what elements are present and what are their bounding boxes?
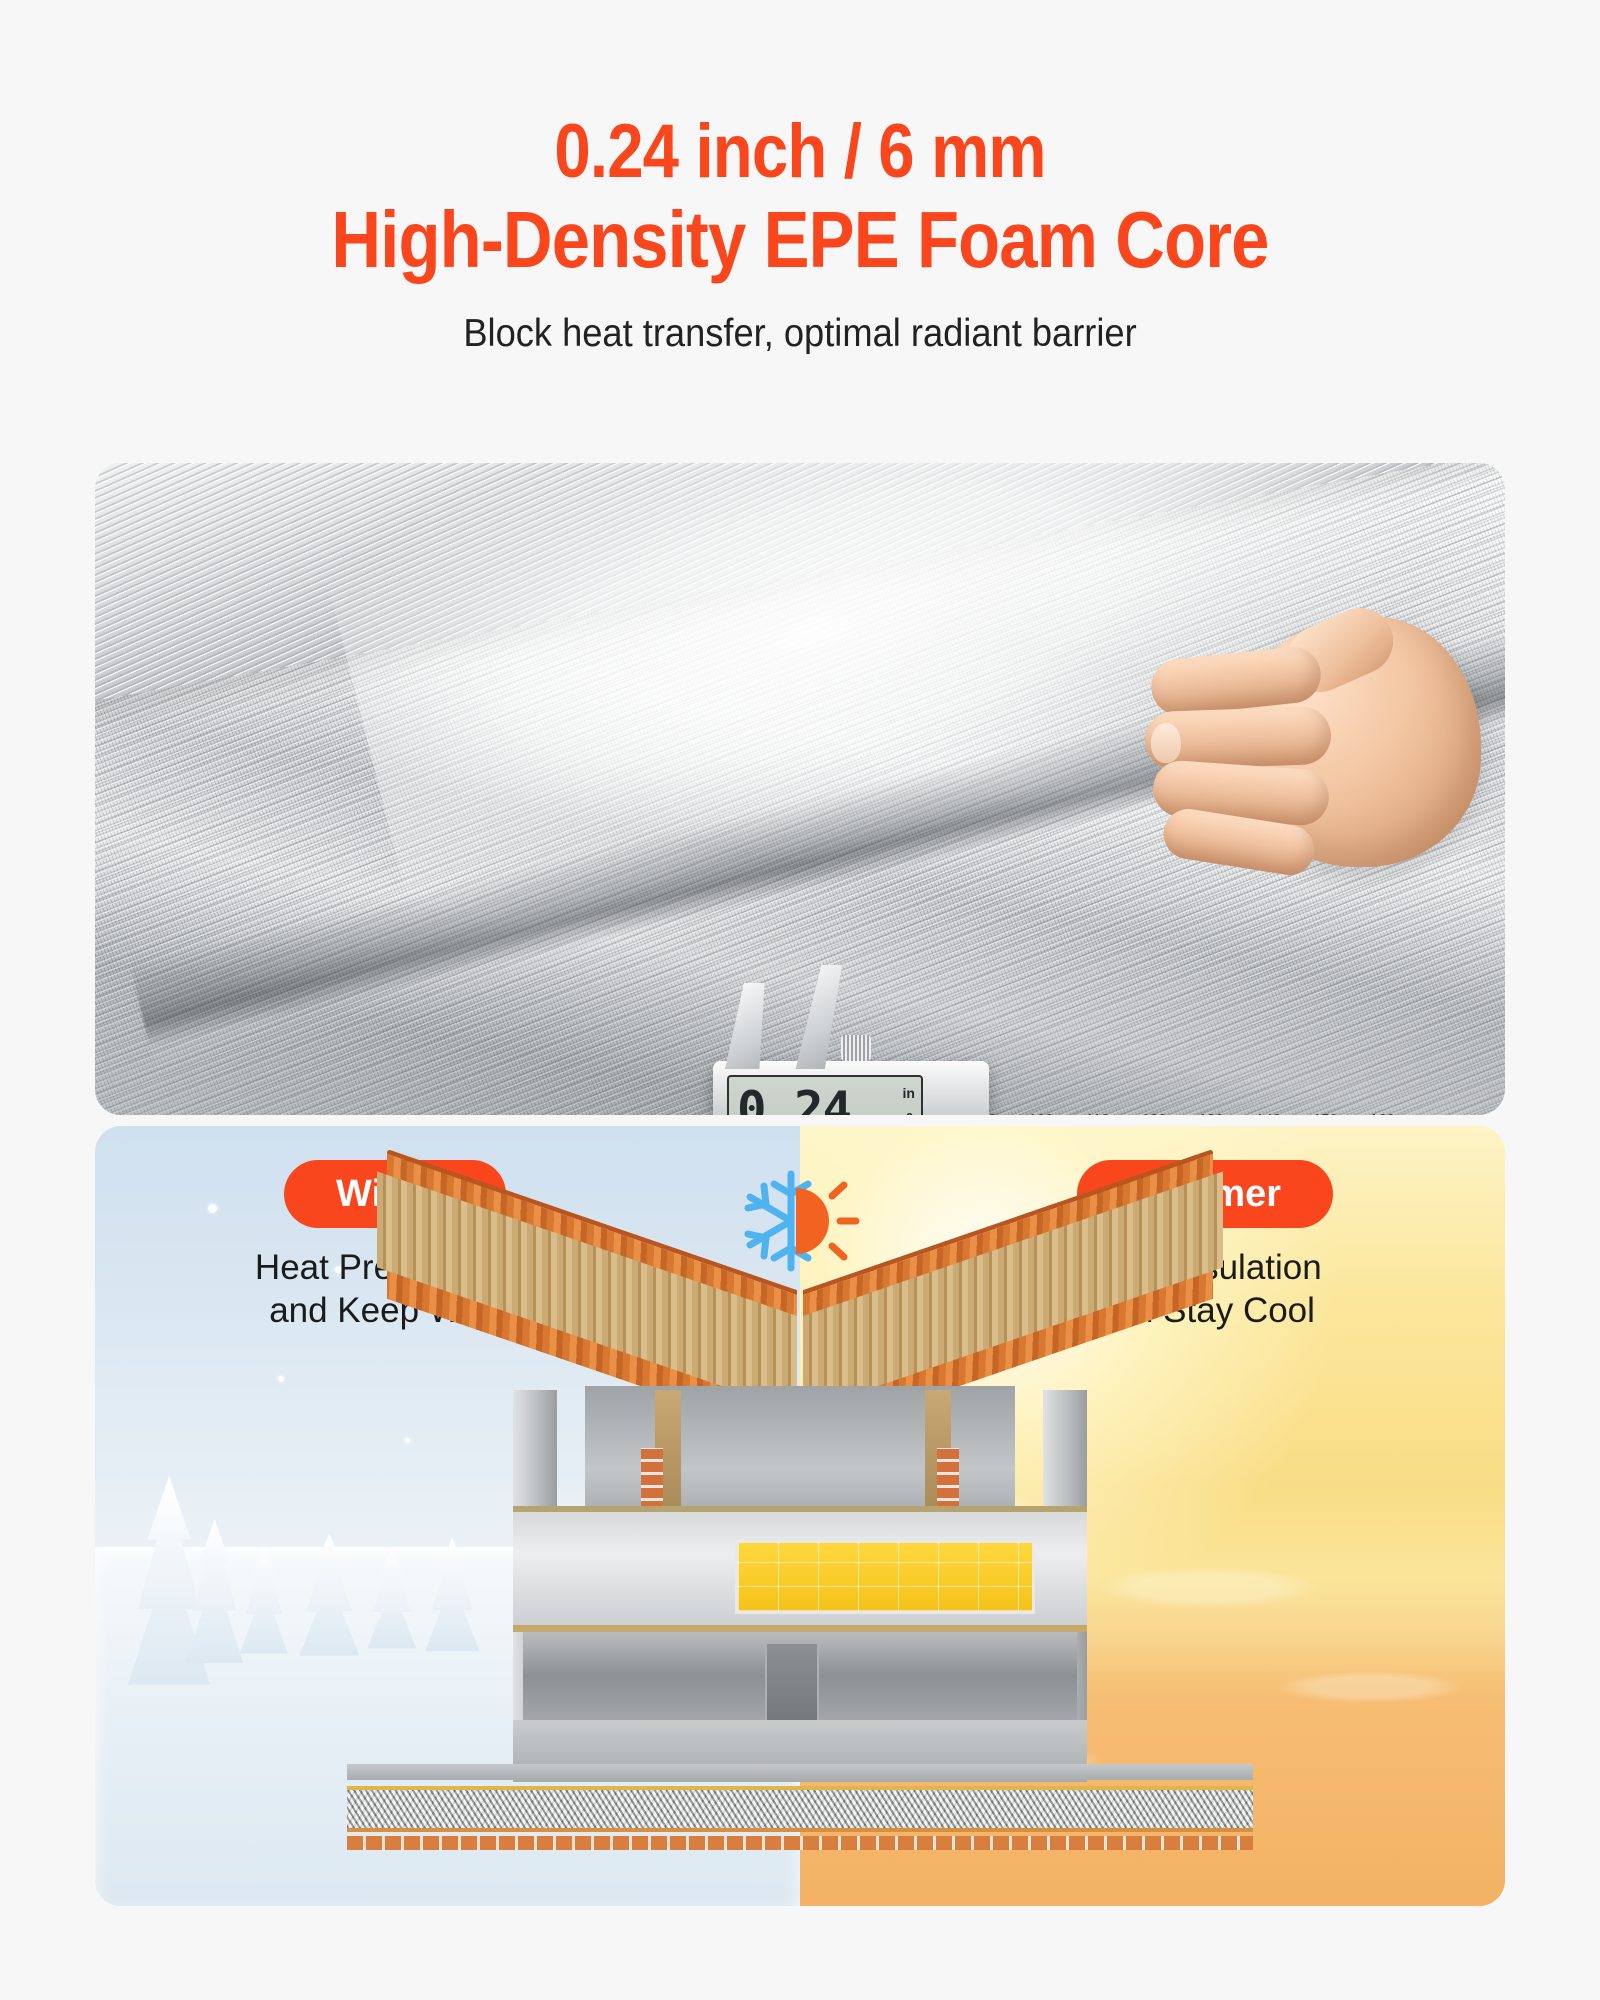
scale-number: 150 <box>1313 1111 1338 1115</box>
header: 0.24 inch / 6 mm High-Density EPE Foam C… <box>0 0 1600 358</box>
season-comparison-panel: Winter Heat Preservation and Keep Warm S… <box>95 1126 1505 1906</box>
foundation-slab <box>347 1764 1253 1780</box>
scale-number: 140 <box>1256 1111 1281 1115</box>
caliper-head: 0.24 in 6 inch/mm オン/オフ ゼロ/設定 <box>713 1061 989 1115</box>
hand-holding-caliper <box>1151 575 1481 905</box>
caliper-lcd-display: 0.24 in 6 inch/mm オン/オフ ゼロ/設定 <box>727 1075 923 1115</box>
snowflake-sun-icon <box>736 1166 864 1276</box>
page-title-line-1: 0.24 inch / 6 mm <box>112 108 1488 196</box>
foundation-gravel <box>347 1786 1253 1832</box>
foundation-brick <box>347 1836 1253 1850</box>
interior-door <box>765 1642 819 1722</box>
lcd-measurement-value: 0.24 <box>737 1079 851 1115</box>
scale-number: 100 <box>1029 1111 1054 1115</box>
lcd-unit-indicator: in <box>903 1085 915 1101</box>
sun-icon <box>796 1185 856 1257</box>
scale-number: 130 <box>1199 1111 1224 1115</box>
falling-snow <box>278 1376 284 1382</box>
scale-number: 120 <box>1142 1111 1167 1115</box>
scale-number: 110 <box>1086 1111 1110 1115</box>
page-title-line-2: High-Density EPE Foam Core <box>112 196 1488 284</box>
fingernail <box>1151 723 1181 763</box>
lcd-secondary-value: 6 <box>906 1110 913 1115</box>
caliper-lock-screw[interactable] <box>841 1035 871 1061</box>
scale-number: 160 <box>1370 1111 1395 1115</box>
caliper-photo-panel: 80 90 100 110 120 130 140 150 160 1 2 3 … <box>95 463 1505 1115</box>
digital-caliper: 80 90 100 110 120 130 140 150 160 1 2 3 … <box>695 1053 1395 1115</box>
house-cutaway-illustration <box>405 1290 1195 1850</box>
foundation <box>347 1764 1253 1850</box>
yellow-insulation-panel <box>735 1540 1035 1614</box>
caliper-scale-numbers: 80 90 100 110 120 130 140 150 160 <box>931 1111 1395 1115</box>
page-subtitle: Block heat transfer, optimal radiant bar… <box>56 310 1544 358</box>
